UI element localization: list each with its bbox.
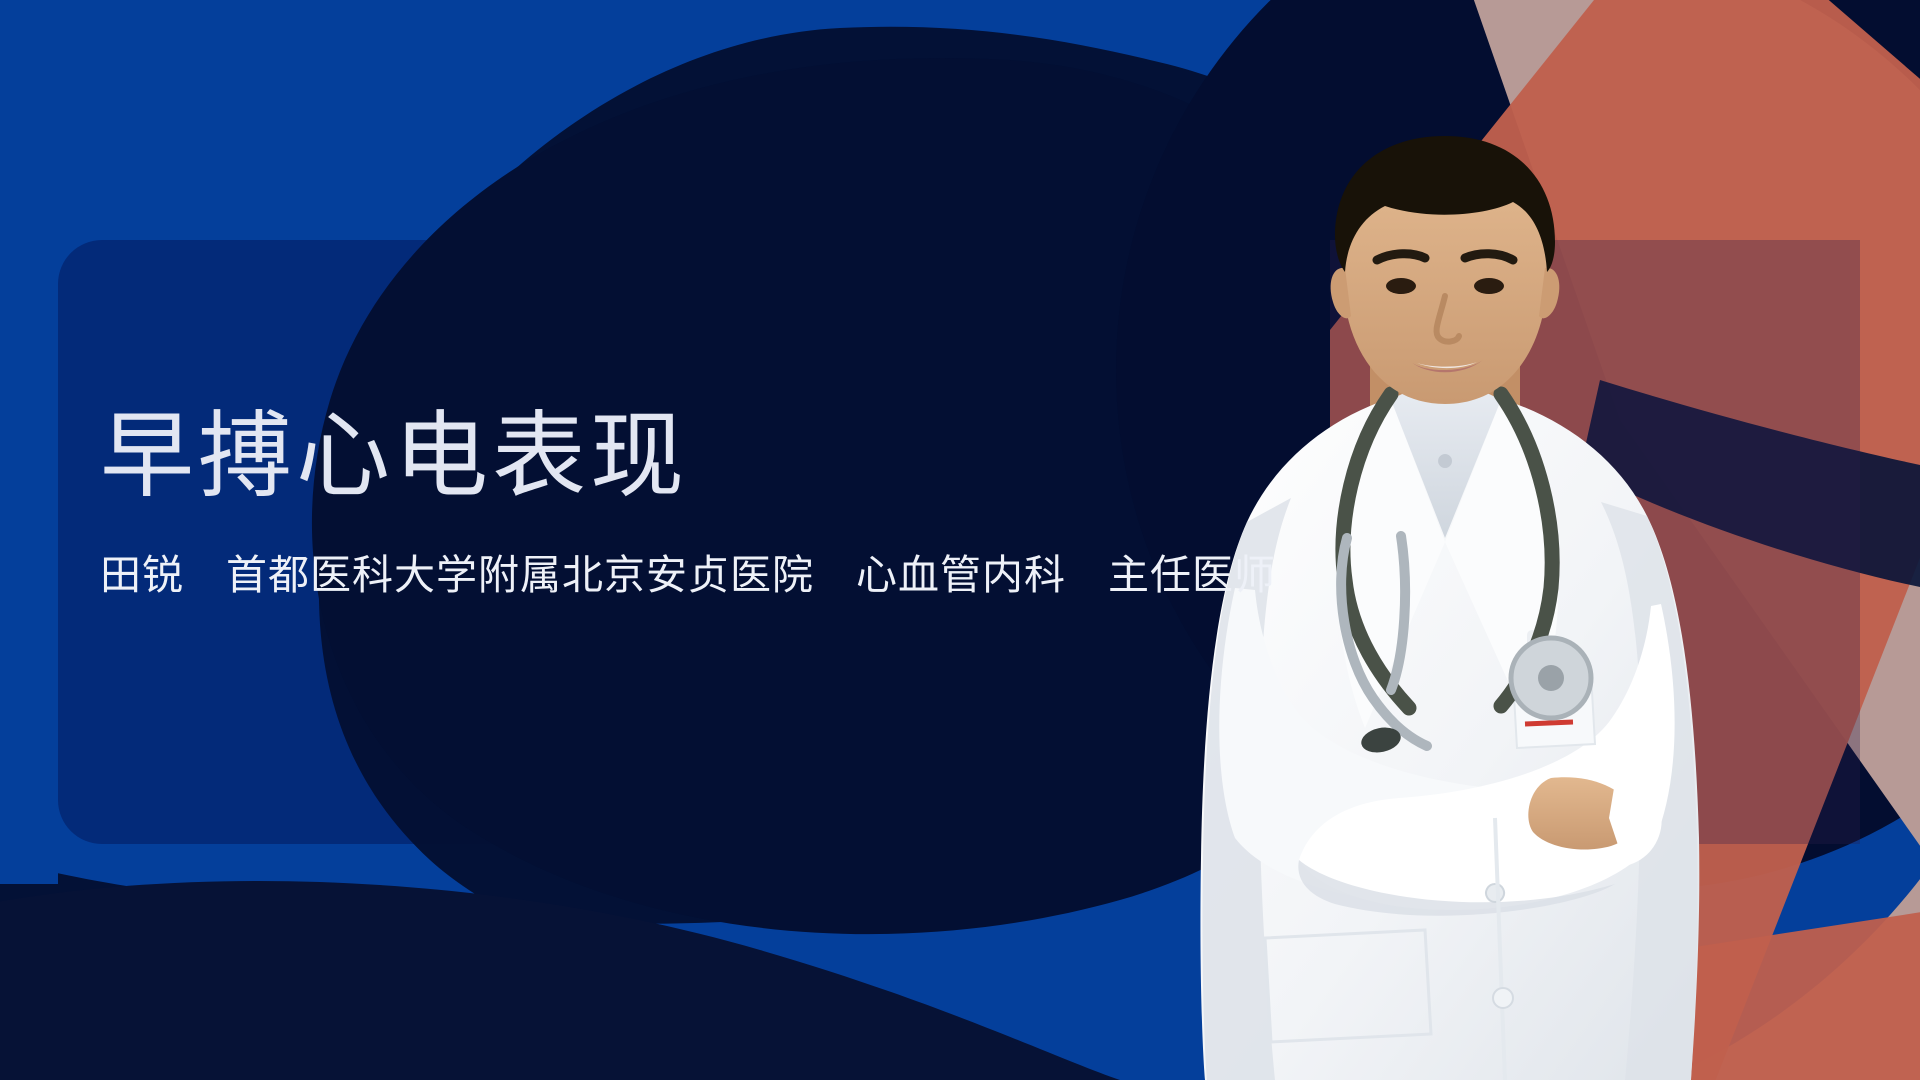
blob-tail	[0, 881, 1120, 1080]
presenter-byline: 田锐 首都医科大学附属北京安贞医院 心血管内科 主任医师	[100, 550, 1250, 600]
page-title: 早搏心电表现	[100, 400, 1250, 512]
presentation-slide: 早搏心电表现 田锐 首都医科大学附属北京安贞医院 心血管内科 主任医师	[0, 0, 1920, 1080]
panel-left-corner-mask	[0, 200, 58, 884]
coat-button-lower	[1493, 988, 1513, 1008]
steth-chestpiece-center	[1538, 665, 1564, 691]
shirt-button	[1438, 454, 1452, 468]
slide-text-block: 早搏心电表现 田锐 首都医科大学附属北京安贞医院 心血管内科 主任医师	[100, 400, 1250, 600]
eye-right	[1474, 278, 1504, 294]
cuff-button	[1486, 884, 1504, 902]
eye-left	[1386, 278, 1416, 294]
doctor-portrait	[1195, 118, 1715, 1080]
pocket-logo	[1525, 722, 1573, 724]
